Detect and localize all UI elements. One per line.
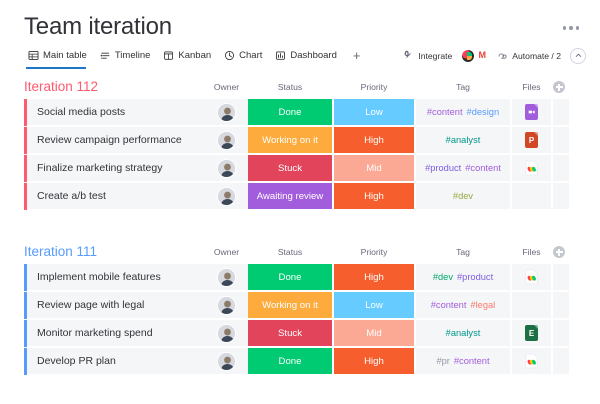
cell-tag[interactable]: #product#content: [416, 155, 510, 182]
avatar-man-2: [217, 268, 236, 287]
view-tabs: Main tableTimelineKanbanChartDashboard+: [24, 45, 367, 66]
timeline-icon: [100, 50, 111, 61]
cell-empty: [553, 264, 569, 291]
row-name[interactable]: Create a/b test: [27, 183, 205, 210]
row-name[interactable]: Develop PR plan: [27, 348, 205, 375]
cell-tag[interactable]: #analyst: [416, 320, 510, 347]
cell-owner[interactable]: [205, 292, 248, 319]
tag-chip[interactable]: #dev: [433, 272, 453, 282]
column-header-tag[interactable]: Tag: [416, 247, 510, 257]
cell-tag[interactable]: #analyst: [416, 127, 510, 154]
row-name[interactable]: Monitor marketing spend: [27, 320, 205, 347]
tab-label: Main table: [43, 45, 87, 66]
tag-chip[interactable]: #content: [454, 356, 490, 366]
cell-tag[interactable]: #dev: [416, 183, 510, 210]
tag-chip[interactable]: #content: [465, 163, 501, 173]
column-header-status[interactable]: Status: [248, 247, 332, 257]
board-app: Team iteration Main tableTimelineKanbanC…: [0, 0, 600, 404]
add-column-icon[interactable]: [553, 81, 565, 93]
table-icon: [28, 50, 39, 61]
tag-chip[interactable]: #dev: [453, 191, 473, 201]
cell-empty: [553, 320, 569, 347]
tag-chip[interactable]: #content: [427, 107, 463, 117]
column-headers: OwnerStatusPriorityTagFiles: [0, 82, 600, 96]
avatar-woman-6: [217, 352, 236, 371]
row-name[interactable]: Review campaign performance: [27, 127, 205, 154]
tab-label: Kanban: [178, 45, 211, 66]
video-file-icon[interactable]: [525, 104, 538, 120]
cell-status[interactable]: Working on it: [248, 292, 332, 319]
cell-priority[interactable]: High: [334, 127, 414, 154]
tab-chart[interactable]: Chart: [220, 45, 271, 66]
view-tab-bar: Main tableTimelineKanbanChartDashboard+ …: [0, 45, 600, 69]
tab-label: Timeline: [115, 45, 151, 66]
tab-main-table[interactable]: Main table: [24, 45, 96, 66]
automate-icon: [497, 50, 508, 61]
avatar-woman-3: [217, 187, 236, 206]
cell-owner[interactable]: [205, 264, 248, 291]
table-row[interactable]: Implement mobile featuresDoneHigh#dev#pr…: [24, 264, 569, 291]
column-header-files[interactable]: Files: [512, 82, 551, 92]
cell-files[interactable]: [512, 99, 551, 126]
avatar-woman-2: [217, 131, 236, 150]
column-header-priority[interactable]: Priority: [334, 82, 414, 92]
tag-chip[interactable]: #content: [431, 300, 467, 310]
cell-files[interactable]: [512, 183, 551, 210]
board-tools: Integrate M Automate / 2: [403, 45, 586, 66]
tag-chip[interactable]: #legal: [470, 300, 495, 310]
cell-tag[interactable]: #dev#product: [416, 264, 510, 291]
add-view-button[interactable]: +: [346, 45, 368, 66]
avatar-woman-4: [217, 296, 236, 315]
cell-owner[interactable]: [205, 183, 248, 210]
integrate-icon: [403, 50, 414, 61]
avatar-woman-1: [217, 103, 236, 122]
add-column-icon[interactable]: [553, 246, 565, 258]
table-row[interactable]: Social media postsDoneLow#content#design: [24, 99, 569, 126]
row-name[interactable]: Social media posts: [27, 99, 205, 126]
chevron-up-icon: [574, 51, 583, 60]
cell-status[interactable]: Done: [248, 99, 332, 126]
cell-priority[interactable]: Low: [334, 292, 414, 319]
row-name[interactable]: Review page with legal: [27, 292, 205, 319]
tab-label: Chart: [239, 45, 262, 66]
cell-priority[interactable]: High: [334, 183, 414, 210]
cell-empty: [553, 348, 569, 375]
table-row[interactable]: Review campaign performanceWorking on it…: [24, 127, 569, 154]
kanban-icon: [163, 50, 174, 61]
integrate-label: Integrate: [418, 51, 452, 61]
gmail-icon[interactable]: M: [476, 51, 488, 61]
cell-files[interactable]: [512, 155, 551, 182]
cell-status[interactable]: Awaiting review: [248, 183, 332, 210]
active-tab-underline: [26, 67, 86, 69]
column-header-tag[interactable]: Tag: [416, 82, 510, 92]
cell-priority[interactable]: Low: [334, 99, 414, 126]
row-name[interactable]: Implement mobile features: [27, 264, 205, 291]
dashboard-icon: [275, 50, 286, 61]
column-header-status[interactable]: Status: [248, 82, 332, 92]
chart-icon: [224, 50, 235, 61]
collapse-toolbar-button[interactable]: [570, 48, 586, 64]
cell-owner[interactable]: [205, 348, 248, 375]
cell-tag[interactable]: #content#legal: [416, 292, 510, 319]
excel-file-icon[interactable]: E: [525, 325, 538, 341]
monday-app-icon[interactable]: [462, 50, 474, 62]
tag-chip[interactable]: #product: [425, 163, 461, 173]
integrate-button[interactable]: Integrate: [403, 50, 452, 61]
cell-owner[interactable]: [205, 127, 248, 154]
tab-dashboard[interactable]: Dashboard: [271, 45, 345, 66]
table-row[interactable]: Finalize marketing strategyStuckMid#prod…: [24, 155, 569, 182]
table-row[interactable]: Create a/b testAwaiting reviewHigh#dev: [24, 183, 569, 210]
cell-priority[interactable]: High: [334, 348, 414, 375]
cell-files[interactable]: P: [512, 127, 551, 154]
automate-button[interactable]: Automate / 2: [497, 50, 561, 61]
monday-file-icon[interactable]: [525, 353, 539, 369]
avatar-woman-5: [217, 324, 236, 343]
cell-status[interactable]: Done: [248, 264, 332, 291]
cell-owner[interactable]: [205, 99, 248, 126]
powerpoint-file-icon[interactable]: P: [525, 132, 538, 148]
column-header-owner[interactable]: Owner: [205, 247, 248, 257]
cell-priority[interactable]: Mid: [334, 320, 414, 347]
cell-files[interactable]: E: [512, 320, 551, 347]
cell-empty: [553, 99, 569, 126]
table-row[interactable]: Monitor marketing spendStuckMid#analystE: [24, 320, 569, 347]
cell-priority[interactable]: Mid: [334, 155, 414, 182]
cell-empty: [553, 155, 569, 182]
monday-file-icon[interactable]: [525, 160, 539, 176]
tag-chip[interactable]: #product: [457, 272, 493, 282]
cell-status[interactable]: Stuck: [248, 320, 332, 347]
cell-empty: [553, 292, 569, 319]
page-title: Team iteration: [24, 13, 172, 41]
table-row[interactable]: Develop PR planDoneHigh#pr#content: [24, 348, 569, 375]
tag-chip[interactable]: #analyst: [446, 328, 481, 338]
cell-files[interactable]: [512, 264, 551, 291]
cell-empty: [553, 183, 569, 210]
cell-status[interactable]: Done: [248, 348, 332, 375]
cell-status[interactable]: Stuck: [248, 155, 332, 182]
cell-status[interactable]: Working on it: [248, 127, 332, 154]
column-header-files[interactable]: Files: [512, 247, 551, 257]
more-options-icon[interactable]: [560, 23, 582, 33]
tab-label: Dashboard: [290, 45, 336, 66]
cell-priority[interactable]: High: [334, 264, 414, 291]
monday-file-icon[interactable]: [525, 269, 539, 285]
cell-files[interactable]: [512, 348, 551, 375]
cell-empty: [553, 127, 569, 154]
tab-kanban[interactable]: Kanban: [159, 45, 220, 66]
row-name[interactable]: Finalize marketing strategy: [27, 155, 205, 182]
column-headers: OwnerStatusPriorityTagFiles: [0, 247, 600, 261]
tag-chip[interactable]: #analyst: [446, 135, 481, 145]
cell-owner[interactable]: [205, 320, 248, 347]
cell-owner[interactable]: [205, 155, 248, 182]
tag-chip[interactable]: #pr: [436, 356, 449, 366]
column-header-owner[interactable]: Owner: [205, 82, 248, 92]
integration-app-icons[interactable]: M: [462, 50, 488, 62]
cell-tag[interactable]: #pr#content: [416, 348, 510, 375]
tab-timeline[interactable]: Timeline: [96, 45, 160, 66]
tag-chip[interactable]: #design: [467, 107, 500, 117]
board-header: Team iteration: [0, 0, 600, 40]
table-row[interactable]: Review page with legalWorking on itLow#c…: [24, 292, 569, 319]
automate-label: Automate / 2: [512, 51, 561, 61]
cell-tag[interactable]: #content#design: [416, 99, 510, 126]
avatar-man-1: [217, 159, 236, 178]
cell-files[interactable]: [512, 292, 551, 319]
column-header-priority[interactable]: Priority: [334, 247, 414, 257]
